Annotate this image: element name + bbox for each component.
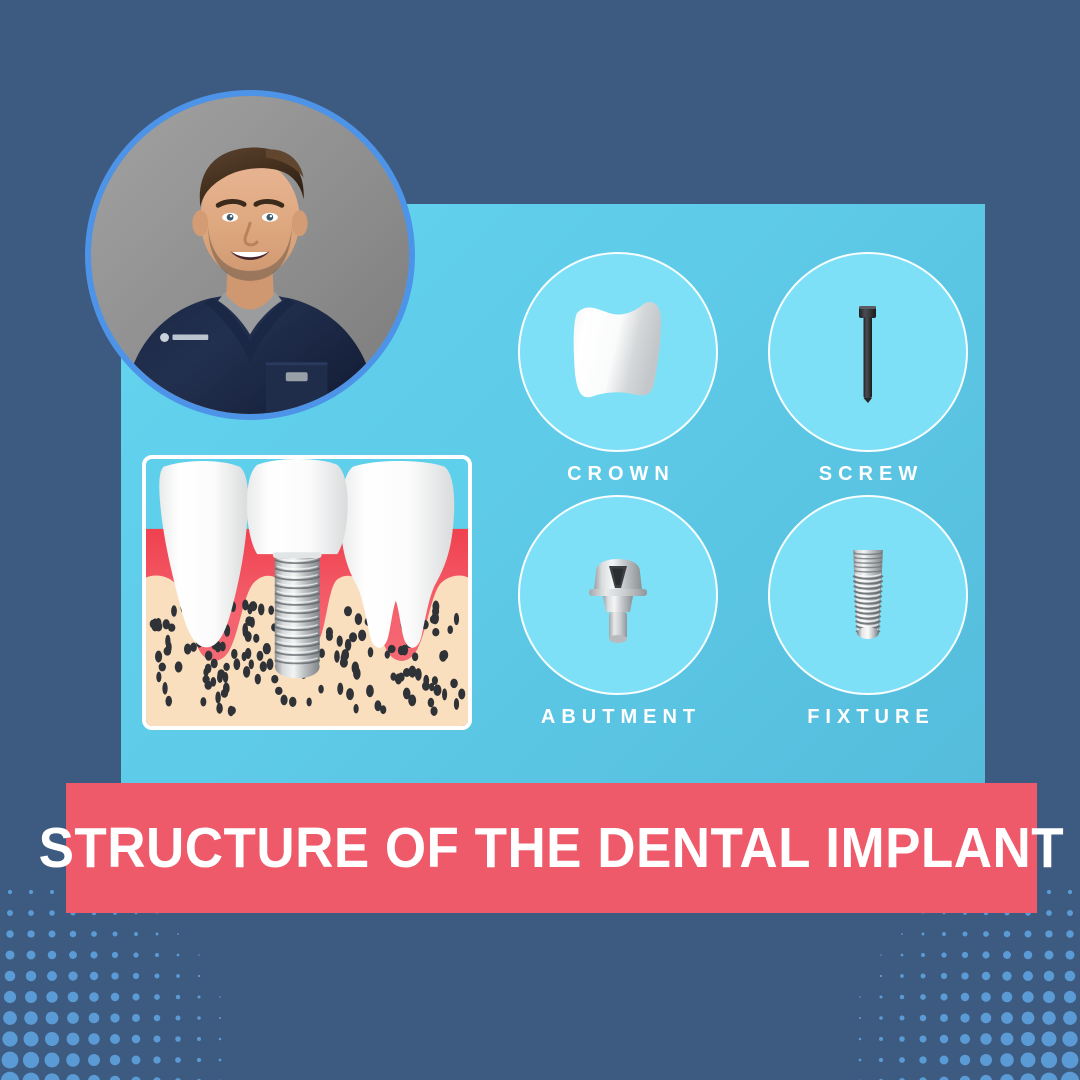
title-banner: STRUCTURE OF THE DENTAL IMPLANT [66, 783, 1037, 913]
part-label-screw: SCREW [763, 464, 973, 484]
part-label-crown: CROWN [513, 464, 723, 484]
poster-canvas: CROWN [0, 0, 1080, 1080]
part-abutment[interactable]: ABUTMENT [513, 495, 723, 727]
jaw-cross-section-diagram [142, 455, 472, 730]
part-label-fixture: FIXTURE [763, 707, 973, 727]
abutment-circle [518, 495, 718, 695]
abutment-icon [553, 530, 683, 660]
implant-fixture-icon [803, 530, 933, 660]
abutment-screw-icon [803, 287, 933, 417]
screw-circle [768, 252, 968, 452]
tooth-crown-icon [553, 287, 683, 417]
part-fixture[interactable]: FIXTURE [763, 495, 973, 727]
fixture-circle [768, 495, 968, 695]
part-label-abutment: ABUTMENT [513, 707, 723, 727]
implant-parts-grid: CROWN [505, 252, 970, 740]
crown-circle [518, 252, 718, 452]
part-screw[interactable]: SCREW [763, 252, 973, 484]
part-crown[interactable]: CROWN [513, 252, 723, 484]
dentist-portrait-avatar [85, 90, 415, 420]
page-title: STRUCTURE OF THE DENTAL IMPLANT [39, 820, 1064, 877]
